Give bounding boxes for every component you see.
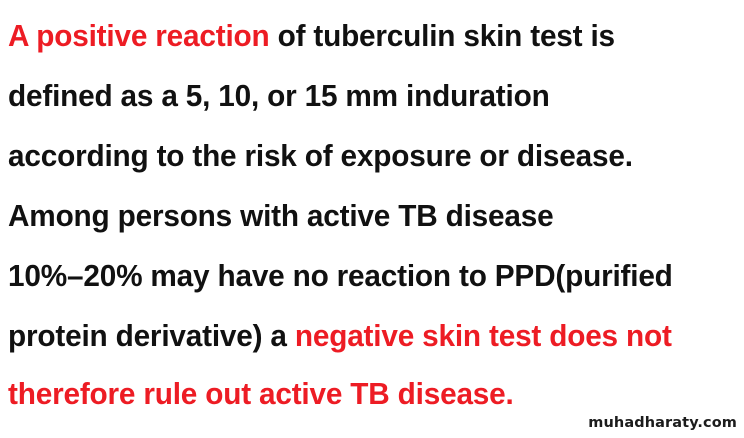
text-line-2: defined as a 5, 10, or 15 mm induration bbox=[8, 66, 715, 126]
text-line-3-body: according to the risk of exposure or dis… bbox=[8, 138, 633, 173]
watermark-muhadharaty: muhadharaty.com bbox=[588, 415, 737, 431]
text-line-6: protein derivative) a negative skin test… bbox=[8, 306, 715, 366]
text-line-6-body: protein derivative) a bbox=[8, 318, 295, 353]
text-line-5-body: 10%–20% may have no reaction to PPD(puri… bbox=[8, 258, 673, 293]
text-line-1-body: of tuberculin skin test is bbox=[270, 18, 615, 53]
text-line-2-body: defined as a 5, 10, or 15 mm induration bbox=[8, 78, 550, 113]
text-line-7-highlight: therefore rule out active TB disease. bbox=[8, 376, 514, 411]
slide-canvas: A positive reaction of tuberculin skin t… bbox=[0, 0, 744, 438]
text-line-1: A positive reaction of tuberculin skin t… bbox=[8, 6, 715, 66]
text-line-4: Among persons with active TB disease bbox=[8, 186, 715, 246]
text-line-4-body: Among persons with active TB disease bbox=[8, 198, 553, 233]
text-line-6-highlight: negative skin test does not bbox=[295, 318, 672, 353]
text-line-7: therefore rule out active TB disease. bbox=[8, 366, 715, 422]
slide-text-block: A positive reaction of tuberculin skin t… bbox=[8, 6, 744, 422]
text-line-3: according to the risk of exposure or dis… bbox=[8, 126, 715, 186]
text-line-5: 10%–20% may have no reaction to PPD(puri… bbox=[8, 246, 715, 306]
text-line-1-highlight: A positive reaction bbox=[8, 18, 270, 53]
